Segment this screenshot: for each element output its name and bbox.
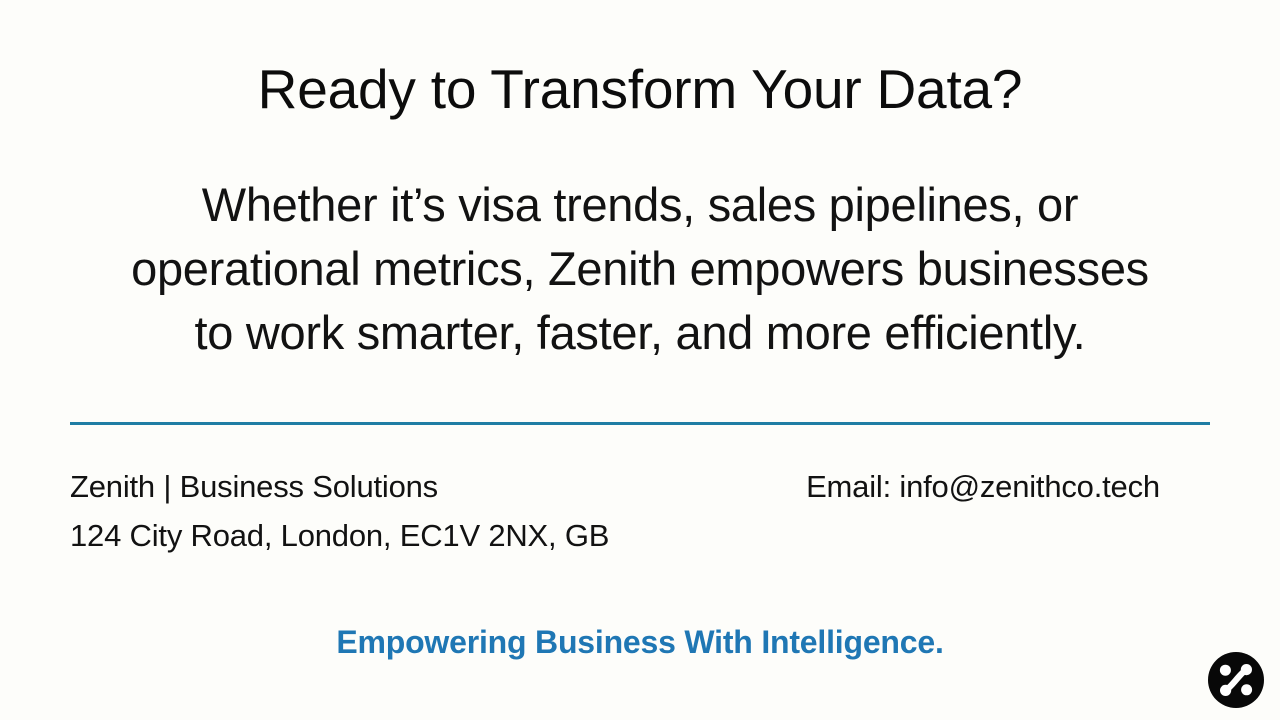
tagline: Empowering Business With Intelligence.: [70, 624, 1210, 661]
company-name: Zenith | Business Solutions: [70, 462, 609, 511]
contact-block: Zenith | Business Solutions 124 City Roa…: [70, 462, 1210, 558]
body-paragraph: Whether it’s visa trends, sales pipeline…: [62, 173, 1218, 365]
company-address: 124 City Road, London, EC1V 2NX, GB: [70, 511, 609, 560]
body-line-3: to work smarter, faster, and more effici…: [62, 301, 1218, 365]
company-email[interactable]: Email: info@zenithco.tech: [756, 462, 1210, 511]
slide-canvas: Ready to Transform Your Data? Whether it…: [0, 0, 1280, 720]
page-title: Ready to Transform Your Data?: [70, 58, 1210, 121]
contact-email-group: Email: info@zenithco.tech: [756, 462, 1210, 511]
zenith-node-logo-icon: [1208, 652, 1264, 708]
horizontal-divider: [70, 422, 1210, 425]
body-line-2: operational metrics, Zenith empowers bus…: [62, 237, 1218, 301]
body-line-1: Whether it’s visa trends, sales pipeline…: [62, 173, 1218, 237]
contact-address-group: Zenith | Business Solutions 124 City Roa…: [70, 462, 609, 560]
